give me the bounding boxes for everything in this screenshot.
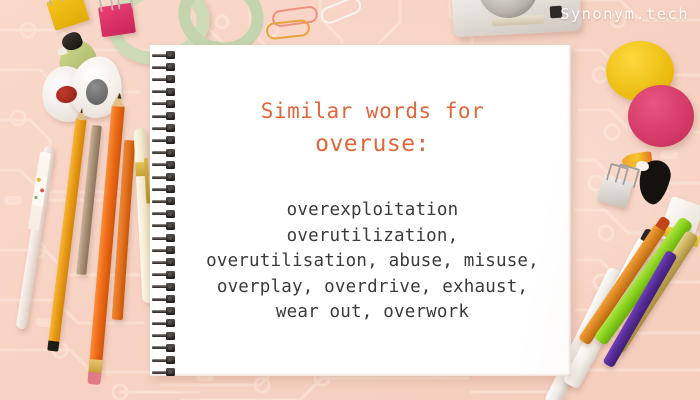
pencil-ferrule bbox=[88, 359, 102, 373]
pink-macaron bbox=[628, 85, 694, 147]
spiral-coil bbox=[152, 51, 180, 59]
spiral-coil bbox=[152, 197, 180, 205]
spiral-coil bbox=[152, 161, 180, 169]
notepad-content: Similar words for overuse: overexploitat… bbox=[184, 45, 561, 376]
spiral-coil bbox=[152, 234, 180, 242]
coil-highlight bbox=[168, 273, 172, 277]
coil-highlight bbox=[168, 297, 172, 301]
notepad-right-edge bbox=[568, 45, 571, 376]
coil-highlight bbox=[168, 163, 172, 167]
spiral-coil bbox=[152, 124, 180, 132]
spiral-coil bbox=[152, 246, 180, 254]
pencil-lead bbox=[117, 92, 122, 98]
coil-highlight bbox=[168, 175, 172, 179]
spiral-coil bbox=[152, 185, 180, 193]
coil-highlight bbox=[168, 114, 172, 118]
spiral-coil bbox=[152, 356, 180, 364]
page-title-line-1: Similar words for bbox=[184, 99, 561, 123]
coil-highlight bbox=[168, 151, 172, 155]
pencil-eraser bbox=[87, 372, 101, 385]
coil-highlight bbox=[168, 102, 172, 106]
pink-binder-clip bbox=[98, 3, 136, 37]
coil-highlight bbox=[168, 334, 172, 338]
coil-highlight bbox=[168, 90, 172, 94]
spiral-coil bbox=[152, 344, 180, 352]
spiral-notepad: Similar words for overuse: overexploitat… bbox=[150, 45, 571, 376]
coil-highlight bbox=[168, 236, 172, 240]
coil-highlight bbox=[168, 358, 172, 362]
spiral-coil bbox=[152, 307, 180, 315]
screenshot-root: Similar words for overuse: overexploitat… bbox=[0, 0, 700, 400]
coil-highlight bbox=[168, 212, 172, 216]
synonym-line: wear out, overwork bbox=[184, 300, 561, 326]
spiral-coil bbox=[152, 173, 180, 181]
synonym-line: overexploitation bbox=[184, 198, 561, 224]
coil-highlight bbox=[168, 285, 172, 289]
spiral-coil bbox=[152, 258, 180, 266]
synonym-line: overplay, overdrive, exhaust, bbox=[184, 275, 561, 301]
spiral-coil bbox=[152, 75, 180, 83]
spiral-coil bbox=[152, 222, 180, 230]
coil-highlight bbox=[168, 224, 172, 228]
spiral-coil bbox=[152, 210, 180, 218]
spiral-coil bbox=[152, 283, 180, 291]
synonym-line: overutilisation, abuse, misuse, bbox=[184, 249, 561, 275]
spiral-coil bbox=[152, 136, 180, 144]
pencil-end-cap bbox=[47, 340, 59, 351]
spiral-coil bbox=[152, 295, 180, 303]
spiral-coil bbox=[152, 112, 180, 120]
spiral-coil bbox=[152, 149, 180, 157]
spiral-coil bbox=[152, 271, 180, 279]
page-title-headword: overuse: bbox=[184, 131, 561, 157]
spiral-coil bbox=[152, 100, 180, 108]
spiral-coil bbox=[152, 332, 180, 340]
spiral-coil bbox=[152, 368, 180, 376]
coil-highlight bbox=[168, 346, 172, 350]
coil-highlight bbox=[168, 53, 172, 57]
spiral-binding bbox=[150, 45, 184, 376]
spiral-coil bbox=[152, 63, 180, 71]
spiral-coil bbox=[152, 88, 180, 96]
spiral-coil bbox=[152, 319, 180, 327]
synonym-list: overexploitationoverutilization,overutil… bbox=[184, 198, 561, 326]
synonym-line: overutilization, bbox=[184, 224, 561, 250]
site-logo[interactable]: Synonym.tech bbox=[560, 5, 689, 23]
